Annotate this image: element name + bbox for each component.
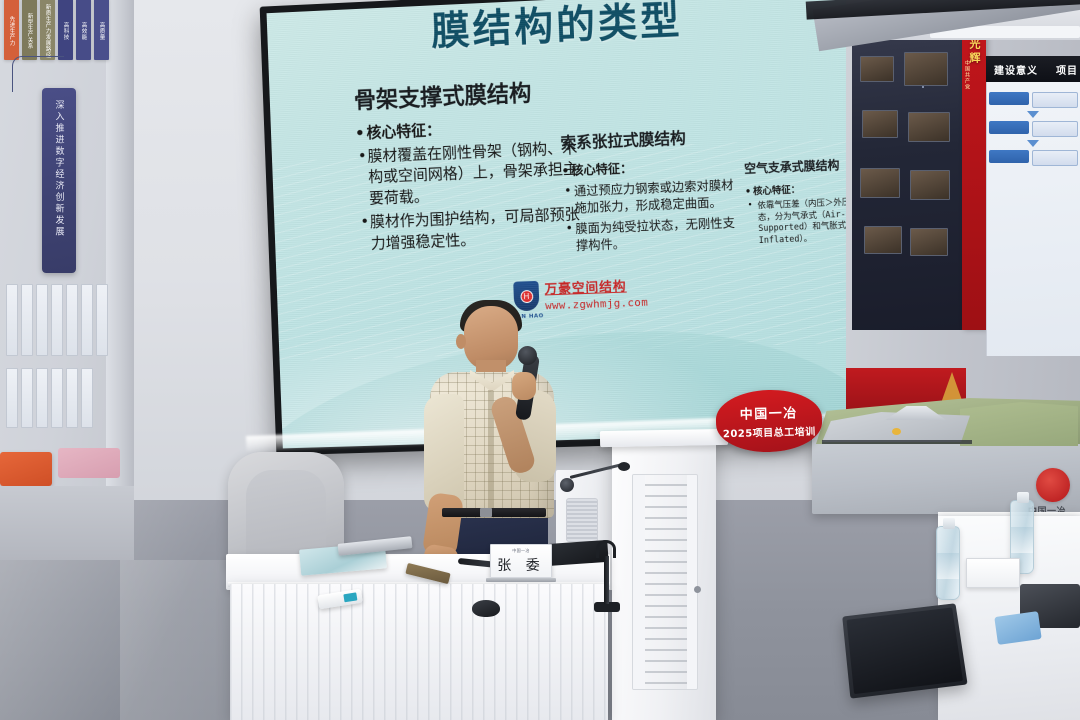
podium-vent-grille: [632, 474, 698, 690]
display-photo: [908, 112, 950, 142]
wall-strip-4: 高效能: [76, 0, 91, 60]
display-photo: [904, 52, 948, 86]
display-photo: [910, 170, 950, 200]
wall-card: [66, 368, 78, 428]
flow-node: [989, 121, 1029, 134]
wall-card: [36, 284, 48, 356]
wall-strip-label: 高效能: [80, 22, 88, 40]
desk-nameplate: 中国一冶 张 委: [490, 544, 552, 578]
wall-strip-1: 新型生产关系: [22, 0, 37, 60]
slide-bullet: 膜材覆盖在刚性骨架（钢构、木构或空间网格）上，骨架承担主要荷载。: [356, 138, 581, 210]
wall-strip-label: 先进生产力: [8, 16, 16, 46]
flow-arrow-icon: [1027, 140, 1039, 147]
water-bottle[interactable]: [936, 526, 960, 600]
wall-card: [36, 368, 48, 428]
badge-line-2: 2025项目总工培训: [723, 423, 816, 440]
badge-line-1: 中国一冶: [740, 402, 798, 423]
display-photo: [860, 168, 900, 198]
table-mic-stand-pole: [604, 556, 609, 604]
slide-column-1: 骨架支撑式膜结构 核心特征： 膜材覆盖在刚性骨架（钢构、木构或空间网格）上，骨架…: [353, 72, 582, 258]
watermark-company: 万豪空间结构: [544, 275, 648, 297]
wall-card: [21, 284, 33, 356]
laptop-screen: [847, 607, 963, 694]
wall-card: [66, 284, 78, 356]
board-header-2: 项目: [1056, 62, 1078, 77]
flow-node: [989, 150, 1029, 163]
table-mic-clip-icon: [596, 540, 616, 558]
desk-note-card[interactable]: [966, 558, 1020, 588]
conference-table-skirt: [230, 584, 608, 720]
person-belt: [442, 508, 546, 517]
wall-card: [51, 368, 63, 428]
slide-column-2-bullet-label: 核心特征：: [561, 153, 744, 179]
wall-graphic-line: [12, 56, 64, 92]
left-wall-banner-text: 深入推进数字经济创新发展: [53, 100, 66, 238]
slide-bullet: 通过预应力钢索或边索对膜材施加张力，形成稳定曲面。: [562, 176, 746, 217]
right-dark-display-panel: [852, 0, 962, 330]
wall-strip-3: 高科技: [58, 0, 73, 60]
wall-strip-2: 新质生产力发展路径: [40, 0, 55, 60]
computer-mouse[interactable]: [472, 600, 500, 617]
wall-strip-5: 高质量: [94, 0, 109, 60]
flow-row: [989, 150, 1078, 166]
slide-column-2-list: 通过预应力钢索或边索对膜材施加张力，形成稳定曲面。 膜面为纯受拉状态，无刚性支撑…: [562, 176, 747, 254]
person-right-hand: [512, 372, 536, 400]
slide-column-2: 索系张拉式膜结构 核心特征： 通过预应力钢索或边索对膜材施加张力，形成稳定曲面。…: [560, 122, 747, 257]
architectural-model-edge: [822, 440, 972, 444]
slide-column-1-heading: 骨架支撑式膜结构: [353, 72, 576, 115]
wall-strip-label: 新质生产力发展路径: [44, 4, 52, 58]
remote-indicator-icon: [343, 592, 357, 602]
party-red-banner: ☭ 中国共产党 光辉: [962, 0, 986, 330]
left-wall-base: [0, 486, 134, 560]
right-desk-logo-icon: [1036, 468, 1070, 502]
flow-row: [989, 121, 1078, 137]
display-photo: [862, 110, 898, 138]
left-wall-strip-group: 先进生产力 新型生产关系 新质生产力发展路径 高科技 高效能 高质量: [4, 0, 109, 60]
right-info-board-header: 建设意义 项目: [986, 56, 1080, 82]
slide-bullet: 膜材作为围护结构，可局部预张力增强稳定性。: [358, 204, 582, 255]
flow-node: [989, 92, 1029, 105]
left-wall-banner: 深入推进数字经济创新发展: [42, 88, 76, 273]
left-wall-card-row-2: [6, 368, 93, 428]
gooseneck-mic-head-icon: [618, 462, 630, 471]
slide-column-2-heading: 索系张拉式膜结构: [560, 122, 743, 153]
wall-card: [6, 368, 18, 428]
red-banner-small-text: 中国共产党: [964, 60, 971, 90]
flow-row: [989, 92, 1078, 108]
architectural-model-marker: [892, 428, 901, 435]
architectural-model-field: [960, 402, 1078, 446]
flow-node: [1032, 121, 1078, 137]
person-ear: [456, 334, 466, 349]
wall-card: [51, 284, 63, 356]
left-wall-card-row-1: [6, 284, 108, 356]
wall-strip-label: 新型生产关系: [26, 13, 34, 49]
podium-top-surface: [600, 429, 728, 447]
wall-card: [96, 284, 108, 356]
slide-title: 膜结构的类型: [430, 0, 683, 57]
wall-card: [81, 284, 93, 356]
wall-card: [81, 368, 93, 428]
podium-knob[interactable]: [694, 586, 701, 593]
flow-node: [1032, 150, 1078, 166]
wall-strip-label: 高质量: [98, 22, 106, 40]
slide-column-1-list: 膜材覆盖在刚性骨架（钢构、木构或空间网格）上，骨架承担主要荷载。 膜材作为围护结…: [356, 138, 582, 255]
board-flowchart: [992, 92, 1074, 166]
wall-card: [21, 368, 33, 428]
person-belt-buckle: [480, 508, 492, 517]
left-wall-pink-panel: [58, 448, 120, 478]
nameplate-name: 张 委: [497, 555, 544, 575]
display-photo: [860, 56, 894, 82]
flow-node: [1032, 92, 1078, 108]
wall-strip-label: 高科技: [62, 22, 70, 40]
slide-bullet: 膜面为纯受拉状态，无刚性支撑构件。: [563, 213, 747, 254]
display-photo: [864, 226, 902, 254]
board-header-1: 建设意义: [994, 62, 1038, 77]
left-wall-orange-panel: [0, 452, 52, 486]
wall-card: [6, 284, 18, 356]
presentation-room-scene: 先进生产力 新型生产关系 新质生产力发展路径 高科技 高效能 高质量 深入推进数…: [0, 0, 1080, 720]
nameplate-stand: [486, 578, 556, 582]
laptop[interactable]: [842, 603, 967, 698]
star-dot: [922, 86, 924, 88]
nameplate-org: 中国一冶: [512, 548, 530, 554]
display-photo: [910, 228, 948, 256]
podium-speaker-grille: [566, 498, 598, 542]
wall-strip-0: 先进生产力: [4, 0, 19, 60]
flow-arrow-icon: [1027, 111, 1039, 118]
